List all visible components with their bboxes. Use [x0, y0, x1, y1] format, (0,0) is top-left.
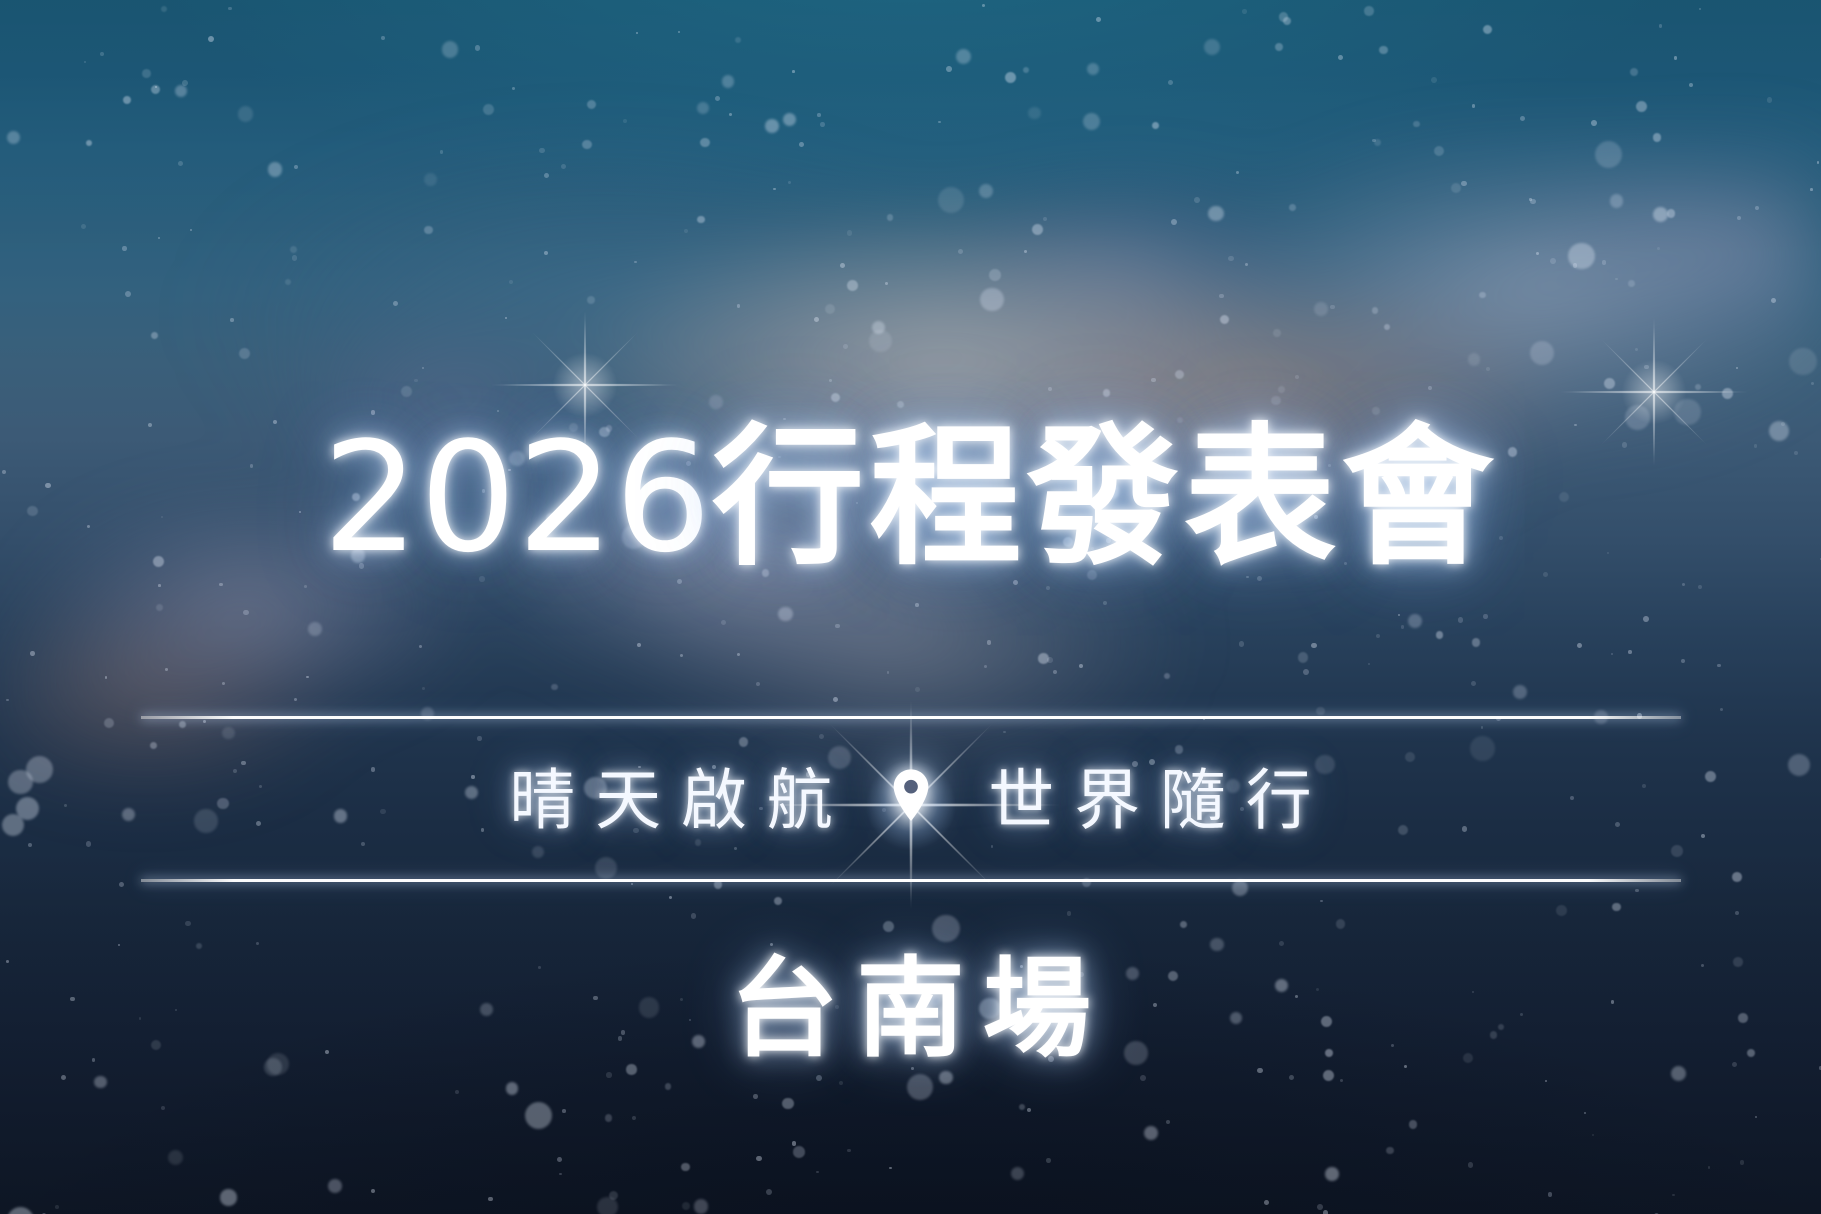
- divider-line-top: [141, 716, 1681, 719]
- subtitle-row: 晴天啟航 世界隨行: [490, 747, 1332, 843]
- main-title-text: 行程發表會: [712, 409, 1499, 586]
- subtitle-left: 晴天啟航: [490, 747, 853, 843]
- location-pin-icon: [891, 768, 931, 822]
- divider-line-bottom: [141, 879, 1681, 882]
- venue-label: 台南場: [712, 922, 1109, 1078]
- main-title: 2026行程發表會: [322, 420, 1498, 576]
- poster-content: 2026行程發表會 晴天啟航 世界隨行 台南場: [0, 0, 1821, 1214]
- subtitle-right: 世界隨行: [969, 747, 1332, 843]
- subtitle-separator: [875, 752, 947, 838]
- event-poster: 2026行程發表會 晴天啟航 世界隨行 台南場: [0, 0, 1821, 1214]
- main-title-year: 2026: [322, 409, 712, 586]
